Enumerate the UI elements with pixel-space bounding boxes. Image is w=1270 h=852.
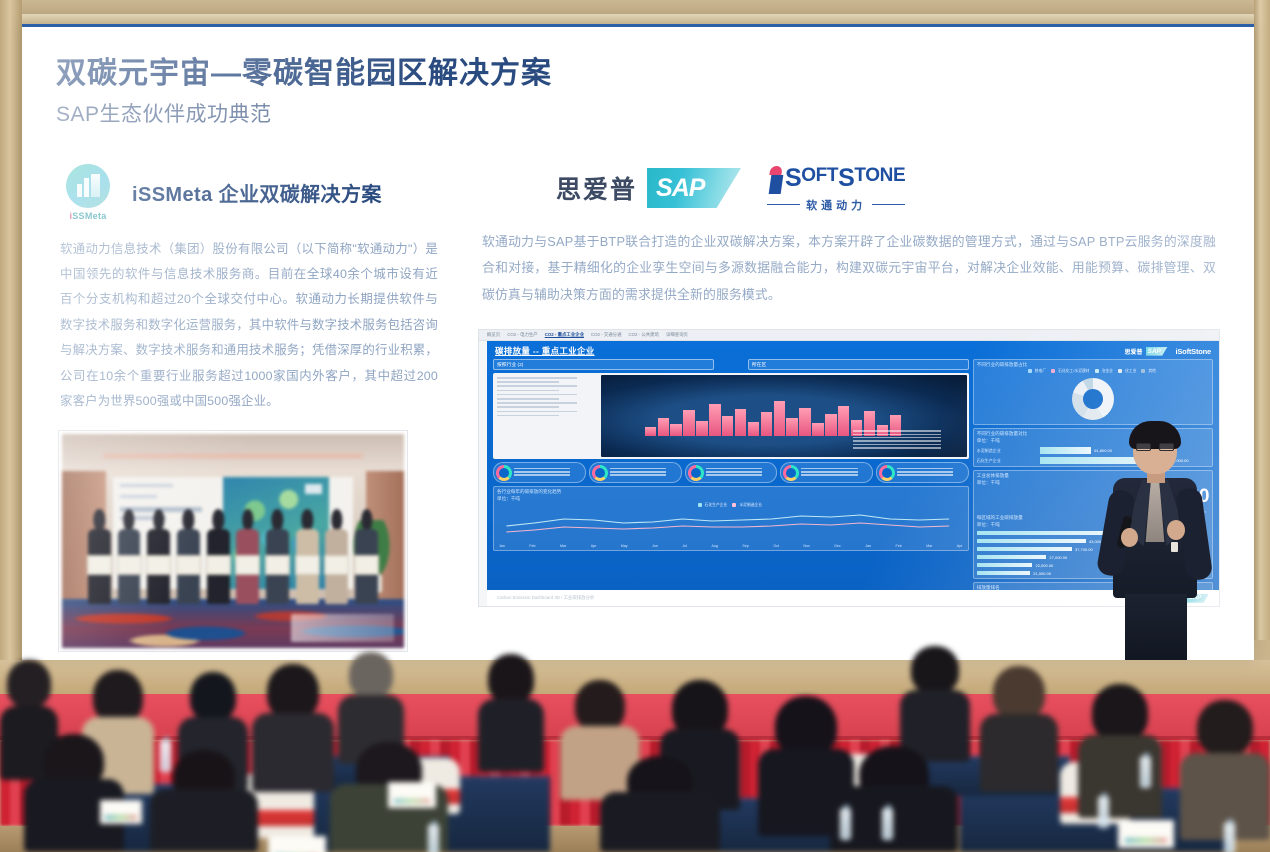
dashboard-filter-industry[interactable]: 按照行业 (2) bbox=[493, 359, 714, 370]
month-tick: Jul bbox=[682, 544, 687, 548]
sap-logo: 思爱普 SAP bbox=[556, 168, 741, 208]
issmeta-building-icon bbox=[66, 164, 110, 208]
photo-award-recipients bbox=[86, 509, 380, 603]
glasses-icon bbox=[1136, 443, 1174, 451]
month-tick: Jan bbox=[499, 544, 505, 548]
month-tick: Apr bbox=[957, 544, 963, 548]
audience-person bbox=[252, 664, 334, 792]
dashboard-map-card bbox=[493, 373, 969, 459]
dashboard-line-unit: 单位：千吨 bbox=[497, 496, 965, 502]
line-legend-2: 水泥制造企业 bbox=[739, 503, 762, 508]
dashboard-line-title: 各行业每年的碳排放的变化趋势 bbox=[497, 489, 965, 495]
dashboard-tab-bar: 概览页 CO2 - 电力生产 CO2 - 重点工业企业 CO2 - 交通分通 C… bbox=[479, 330, 1219, 341]
award-person bbox=[205, 509, 232, 603]
dashboard-isoftstone-logo: iSoftStone bbox=[1176, 347, 1212, 356]
water-bottle bbox=[1140, 756, 1151, 788]
dashboard-tab-overview[interactable]: 概览页 bbox=[487, 332, 500, 338]
isoftstone-s1: S bbox=[785, 166, 801, 191]
audience-name-card bbox=[1118, 820, 1174, 848]
kpi-bar-value-4: 27,000.00 bbox=[1049, 555, 1067, 560]
month-tick: Feb bbox=[529, 544, 535, 548]
bar-category-2: 石化生产企业 bbox=[977, 458, 1037, 464]
audience-person bbox=[600, 756, 720, 852]
award-person bbox=[145, 509, 172, 603]
bar-category-1: 水泥制造企业 bbox=[977, 448, 1037, 454]
dashboard-map-sidelist bbox=[495, 375, 599, 457]
isoftstone-rule-right bbox=[872, 204, 905, 205]
dashboard-line-x-axis: Jan Feb Mar Apr May Jun Jul Aug Sep bbox=[497, 544, 965, 548]
dashboard-logos: 思爱普 SAP iSoftStone bbox=[1124, 347, 1211, 356]
month-tick: Dec bbox=[834, 544, 840, 548]
donut-legend-2: 石化化工/水泥建材 bbox=[1058, 369, 1089, 374]
donut-legend-3: 冶金业 bbox=[1102, 369, 1113, 374]
audience-person bbox=[1180, 700, 1270, 840]
award-person bbox=[353, 509, 380, 603]
dashboard-title: 碳排放量 -- 重点工业企业 bbox=[495, 345, 595, 357]
audience-person bbox=[24, 734, 124, 852]
dashboard-kpi-gauge bbox=[876, 462, 969, 483]
dashboard-kpi-gauge bbox=[589, 462, 682, 483]
month-tick: Mar bbox=[560, 544, 566, 548]
kpi-bar-value-6: 21,000.00 bbox=[1033, 571, 1051, 576]
slide-content: 双碳元宇宙—零碳智能园区解决方案 SAP生态伙伴成功典范 iSSMeta iSS… bbox=[22, 27, 1254, 660]
isoftstone-chinese-row: 软通动力 bbox=[767, 197, 905, 213]
dashboard-donut-panel: 不同行业的碳排放量占比 热电厂 石化化工/水泥建材 冶金业 化工业 其他 bbox=[973, 359, 1213, 425]
month-tick: Oct bbox=[773, 544, 779, 548]
donut-legend-1: 热电厂 bbox=[1035, 369, 1046, 374]
month-tick: Nov bbox=[803, 544, 809, 548]
dashboard-sap-mark: SAP bbox=[1146, 347, 1168, 356]
audience-blur-layer bbox=[0, 648, 1270, 852]
award-person bbox=[294, 509, 321, 603]
month-tick: Feb bbox=[896, 544, 902, 548]
dashboard-kpi-gauge bbox=[780, 462, 873, 483]
wall-right-frame bbox=[1254, 0, 1270, 640]
month-tick: May bbox=[621, 544, 628, 548]
dashboard-kpi-gauge bbox=[685, 462, 778, 483]
audience-person bbox=[478, 654, 544, 772]
gauge-ring-icon bbox=[496, 465, 512, 481]
dashboard-header: 碳排放量 -- 重点工业企业 思爱普 SAP iSoftStone bbox=[487, 341, 1219, 359]
award-photo-content bbox=[62, 434, 404, 648]
audience-name-card bbox=[100, 800, 142, 824]
right-body-text: 软通动力与SAP基于BTP联合打造的企业双碳解决方案，本方案开辟了企业碳数据的管… bbox=[478, 229, 1220, 310]
month-tick: Sep bbox=[742, 544, 748, 548]
partner-brand-row: 思爱普 SAP SOFTSTONE 软通动力 bbox=[478, 164, 1220, 213]
dashboard-tab-detail[interactable]: 详细查询页 bbox=[666, 332, 688, 338]
gauge-ring-icon bbox=[688, 465, 704, 481]
dashboard-map-legend bbox=[853, 430, 955, 450]
audience-area bbox=[0, 648, 1270, 852]
dashboard-footer-caption: Carbon Emission Dashboard 3D / 工业碳排放分析 bbox=[497, 595, 594, 601]
gauge-ring-icon bbox=[592, 465, 608, 481]
dashboard-sap-logo: 思爱普 SAP bbox=[1124, 347, 1167, 356]
award-person bbox=[234, 509, 261, 603]
presenter-speaker bbox=[1095, 424, 1213, 660]
slide-subtitle: SAP生态伙伴成功典范 bbox=[56, 98, 1220, 128]
donut-legend-5: 其他 bbox=[1148, 369, 1156, 374]
line-chart-svg bbox=[497, 510, 965, 544]
slide-title: 双碳元宇宙—零碳智能园区解决方案 bbox=[56, 55, 1220, 93]
photo-caption-watermark bbox=[291, 614, 394, 642]
issmeta-wordmark-rest: SSMeta bbox=[72, 211, 106, 221]
line-legend-1: 石化生产企业 bbox=[705, 503, 728, 508]
dashboard-filter-row: 按照行业 (2) 所在区 bbox=[493, 359, 969, 370]
audience-person bbox=[1078, 684, 1162, 818]
isoftstone-chinese-name: 软通动力 bbox=[806, 197, 866, 213]
isoftstone-logo: SOFTSTONE 软通动力 bbox=[767, 164, 905, 213]
dashboard-donut-chart[interactable] bbox=[1072, 378, 1114, 420]
dashboard-left-column: 按照行业 (2) 所在区 bbox=[493, 359, 969, 607]
isoftstone-wordmark: SOFTSTONE bbox=[767, 166, 905, 194]
bar-fill-1 bbox=[1040, 447, 1091, 454]
water-bottle bbox=[840, 808, 851, 840]
gauge-ring-icon bbox=[783, 465, 799, 481]
left-body-text: 软通动力信息技术（集团）股份有限公司（以下简称"软通动力"）是中国领先的软件与信… bbox=[56, 237, 442, 415]
dashboard-tab-industry[interactable]: CO2 - 重点工业企业 bbox=[545, 332, 584, 338]
issmeta-heading: iSSMeta 企业双碳解决方案 bbox=[132, 178, 382, 207]
award-person bbox=[323, 509, 350, 603]
isoftstone-s2: S bbox=[838, 166, 854, 191]
wall-left-frame bbox=[0, 0, 22, 660]
water-bottle bbox=[1224, 822, 1235, 852]
dashboard-donut-wrap bbox=[977, 376, 1209, 422]
dashboard-kpi-gauges bbox=[493, 462, 969, 483]
isoftstone-oft: OFT bbox=[801, 166, 838, 185]
isoftstone-i-icon bbox=[767, 166, 783, 194]
sap-logo-mark: SAP bbox=[647, 168, 741, 208]
award-ceremony-photo bbox=[58, 430, 408, 652]
left-column: iSSMeta iSSMeta 企业双碳解决方案 软通动力信息技术（集团）股份有… bbox=[56, 164, 442, 653]
award-person bbox=[116, 509, 143, 603]
month-tick: Jun bbox=[652, 544, 658, 548]
dashboard-donut-legend: 热电厂 石化化工/水泥建材 冶金业 化工业 其他 bbox=[977, 369, 1209, 374]
isoftstone-rule-left bbox=[767, 204, 800, 205]
isoftstone-tone: TONE bbox=[854, 166, 905, 185]
month-tick: Aug bbox=[712, 544, 718, 548]
dashboard-sap-cn: 思爱普 bbox=[1124, 347, 1142, 356]
dashboard-filter-district[interactable]: 所在区 bbox=[748, 359, 969, 370]
dashboard-line-chart-panel: 各行业每年的碳排放的变化趋势 单位：千吨 石化生产企业 水泥制造企业 bbox=[493, 486, 969, 551]
wall-top-trim-2 bbox=[0, 14, 1270, 24]
wall-top-trim bbox=[0, 0, 1270, 14]
dashboard-donut-title: 不同行业的碳排放量占比 bbox=[977, 362, 1209, 368]
water-bottle bbox=[882, 808, 893, 840]
dashboard-kpi-gauge bbox=[493, 462, 586, 483]
gauge-ring-icon bbox=[879, 465, 895, 481]
issmeta-logo: iSSMeta bbox=[62, 164, 114, 221]
slide-columns: iSSMeta iSSMeta 企业双碳解决方案 软通动力信息技术（集团）股份有… bbox=[56, 164, 1220, 653]
award-person bbox=[175, 509, 202, 603]
dashboard-tab-buildings[interactable]: CO2 - 公共建筑 bbox=[628, 332, 659, 338]
issmeta-wordmark: iSSMeta bbox=[62, 211, 114, 221]
dashboard-3d-map[interactable] bbox=[601, 375, 967, 457]
presenter-hand-right bbox=[1167, 520, 1185, 540]
presenter-badge bbox=[1171, 542, 1178, 552]
sap-chinese-name: 思爱普 bbox=[556, 170, 637, 206]
water-bottle bbox=[160, 740, 171, 772]
kpi-bar-value-3: 37,700.00 bbox=[1075, 547, 1093, 552]
dashboard-line-plot bbox=[497, 510, 965, 544]
dashboard-tab-power[interactable]: CO2 - 电力生产 bbox=[507, 332, 538, 338]
dashboard-line-legend: 石化生产企业 水泥制造企业 bbox=[497, 503, 965, 508]
donut-legend-4: 化工业 bbox=[1125, 369, 1136, 374]
sap-logo-text: SAP bbox=[656, 174, 704, 203]
audience-person bbox=[900, 646, 970, 762]
audience-name-card bbox=[388, 782, 436, 808]
dashboard-tab-transport[interactable]: CO2 - 交通分通 bbox=[591, 332, 622, 338]
month-tick: Mar bbox=[926, 544, 932, 548]
award-person bbox=[86, 509, 113, 603]
audience-person bbox=[980, 666, 1058, 792]
audience-name-card bbox=[268, 836, 326, 852]
projection-screen: 双碳元宇宙—零碳智能园区解决方案 SAP生态伙伴成功典范 iSSMeta iSS… bbox=[22, 24, 1254, 660]
water-bottle bbox=[428, 824, 439, 852]
award-person bbox=[264, 509, 291, 603]
water-bottle bbox=[1098, 796, 1109, 828]
presenter-hand-left bbox=[1121, 528, 1138, 547]
issmeta-brand-row: iSSMeta iSSMeta 企业双碳解决方案 bbox=[56, 164, 442, 221]
month-tick: Apr bbox=[591, 544, 597, 548]
photo-ceiling bbox=[62, 434, 404, 470]
month-tick: Jan bbox=[865, 544, 871, 548]
kpi-bar-value-5: 22,000.00 bbox=[1035, 563, 1053, 568]
